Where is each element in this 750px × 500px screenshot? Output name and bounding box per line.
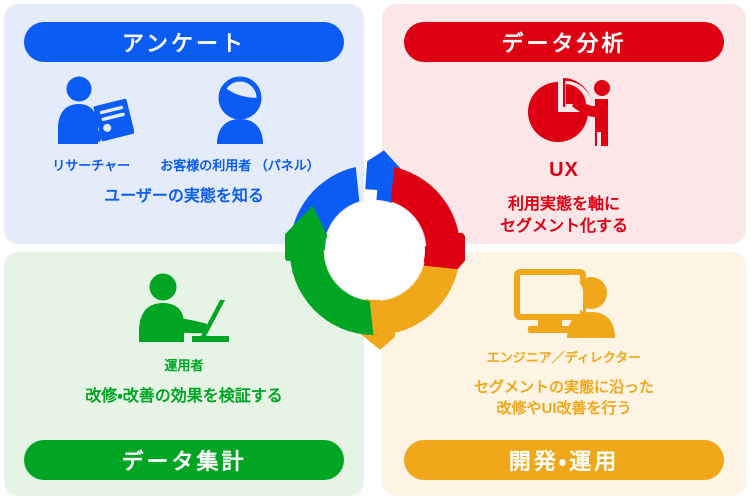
pie-chart-analyst-icon xyxy=(514,76,614,155)
data-aggregation-description: 改修・改善の効果を検証する xyxy=(4,386,364,408)
panel-header-data-analysis: データ分析 xyxy=(404,22,724,62)
panel-header-data-aggregation: データ集計 xyxy=(24,440,344,480)
operator-cell: 運用者 xyxy=(130,272,238,374)
researcher-caption: リサーチャー xyxy=(52,158,130,174)
development-operation-description: セグメントの実態に沿った 改修やUI改善を行う xyxy=(382,378,746,419)
analyst-cell: UX xyxy=(514,76,614,182)
operator-laptop-icon xyxy=(130,272,238,353)
ux-caption: UX xyxy=(549,159,579,182)
diagram-canvas: アンケート xyxy=(0,0,750,500)
monitor-person-icon xyxy=(511,268,617,345)
researcher-cell: リサーチャー xyxy=(48,76,134,174)
researcher-icon xyxy=(48,76,134,153)
cycle-arrows xyxy=(285,145,465,355)
cycle-hub xyxy=(325,200,425,300)
engineer-cell: エンジニア／ディレクター xyxy=(487,268,642,366)
panel-header-survey: アンケート xyxy=(24,22,344,62)
operator-caption: 運用者 xyxy=(164,358,203,374)
engineer-caption: エンジニア／ディレクター xyxy=(487,350,642,366)
panel-header-development-operation: 開発・運用 xyxy=(404,440,724,480)
panel-user-icon xyxy=(204,76,276,153)
